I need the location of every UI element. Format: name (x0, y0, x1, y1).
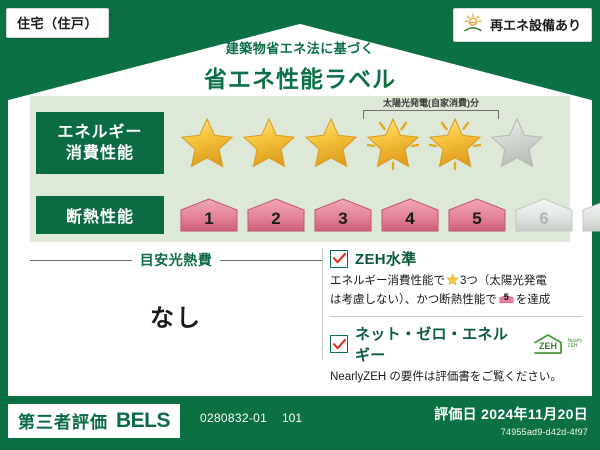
insulation-badge-5-value: 5 (472, 209, 481, 233)
evaluation-date-label: 評価日 (434, 406, 477, 422)
insulation-badge-3: 3 (312, 197, 374, 233)
third-party-label: 第三者評価 (18, 408, 108, 433)
utility-cost-block: 目安光熱費 なし (30, 250, 322, 333)
claim-zeh-standard-title: ZEH水準 (355, 248, 417, 269)
insulation-badge-4: 4 (379, 197, 441, 233)
solar-annotation-label: 太陽光発電(自家消費)分 (363, 96, 499, 109)
insulation-badge-list: 1 2 3 4 (178, 197, 600, 233)
claim-body-part3: を達成 (516, 294, 551, 306)
checkbox-zeh-standard[interactable] (330, 250, 348, 268)
claim-body-part1: エネルギー消費性能で (330, 275, 445, 287)
renewable-energy-label: 再エネ設備あり (490, 15, 581, 34)
claim-zeh-standard-head: ZEH水準 (330, 248, 582, 269)
star-5-filled-solar (426, 115, 484, 171)
utility-cost-value: なし (30, 298, 322, 333)
claim-body-star-count: 3つ（太陽光発電 (460, 275, 547, 287)
star-3-filled (302, 115, 360, 171)
inline-insulation-badge: 5 (499, 292, 514, 306)
claim-zeh-standard-body: エネルギー消費性能で 3つ（太陽光発電 は考慮しない）、かつ断熱性能で 5 を達… (330, 273, 582, 309)
insulation-badge-6: 6 (513, 197, 575, 233)
insulation-badge-1: 1 (178, 197, 240, 233)
energy-label-line1: エネルギー (57, 122, 142, 143)
bels-certification-mark: 第三者評価 BELS (8, 404, 180, 438)
heading-rule-left (30, 260, 132, 261)
energy-performance-row: エネルギー 消費性能 (36, 112, 546, 174)
insulation-badge-6-value: 6 (539, 209, 548, 233)
evaluation-date-value: 2024年11月20日 (481, 406, 588, 422)
bels-logo-text: BELS (116, 409, 170, 433)
svg-text:ZEH: ZEH (539, 341, 557, 351)
claims-divider (330, 316, 582, 317)
star-1-filled (178, 115, 236, 171)
zeh-house-logo-icon: ZEH NearlyZEH (532, 333, 582, 355)
evaluation-date: 評価日 2024年11月20日 (434, 404, 588, 424)
sun-icon (462, 13, 484, 36)
checkbox-net-zero-energy[interactable] (330, 335, 348, 353)
insulation-badge-2: 2 (245, 197, 307, 233)
zeh-logo-subtext: NearlyZEH (568, 339, 582, 349)
insulation-badge-1-value: 1 (204, 209, 213, 233)
inline-star-icon (446, 273, 459, 292)
star-4-filled-solar (364, 115, 422, 171)
evaluation-info: 評価日 2024年11月20日 74955ad9-d42d-4f97 (434, 404, 588, 437)
claim-body-part2: は考慮しない）、かつ断熱性能で (330, 294, 497, 306)
insulation-badge-5: 5 (446, 197, 508, 233)
claim-net-zero-energy: ネット・ゼロ・エネルギー ZEH NearlyZEH NearlyZEH の要件… (330, 323, 582, 386)
heading-rule-right (220, 260, 322, 261)
star-2-filled (240, 115, 298, 171)
certificate-number: 0280832-01 (200, 411, 267, 425)
building-type-tag: 住宅（住戸） (6, 8, 109, 38)
energy-label-card: 住宅（住戸） 再エネ設備あり 建築物省エネ法に基づく 省エネ性能ラベル (0, 0, 600, 450)
utility-cost-heading: 目安光熱費 (30, 250, 322, 270)
insulation-label-text: 断熱性能 (66, 203, 134, 227)
insulation-performance-label: 断熱性能 (36, 196, 164, 234)
building-type-label: 住宅（住戸） (17, 16, 98, 31)
claims-block: ZEH水準 エネルギー消費性能で 3つ（太陽光発電 は考慮しない）、かつ断熱性能… (330, 248, 582, 392)
claim-net-zero-body: NearlyZEH の要件は評価書をご覧ください。 (330, 369, 582, 386)
energy-label-line2: 消費性能 (66, 143, 134, 164)
claim-net-zero-head: ネット・ゼロ・エネルギー ZEH NearlyZEH (330, 323, 582, 365)
insulation-performance-row: 断熱性能 1 2 (36, 196, 600, 234)
insulation-badge-7: 7 (580, 197, 600, 233)
star-6-empty (488, 115, 546, 171)
insulation-badge-2-value: 2 (271, 209, 280, 233)
insulation-badge-3-value: 3 (338, 209, 347, 233)
evaluation-hash: 74955ad9-d42d-4f97 (434, 427, 588, 437)
certificate-sub-number: 101 (282, 411, 302, 425)
insulation-badge-4-value: 4 (405, 209, 414, 233)
claim-net-zero-title: ネット・ゼロ・エネルギー (355, 323, 521, 365)
inline-insulation-value: 5 (499, 292, 514, 307)
claim-zeh-standard: ZEH水準 エネルギー消費性能で 3つ（太陽光発電 は考慮しない）、かつ断熱性能… (330, 248, 582, 309)
energy-star-rating (178, 115, 546, 171)
renewable-energy-badge: 再エネ設備あり (453, 8, 592, 42)
vertical-divider (322, 248, 323, 360)
utility-cost-heading-text: 目安光熱費 (140, 250, 213, 270)
energy-performance-label: エネルギー 消費性能 (36, 112, 164, 174)
